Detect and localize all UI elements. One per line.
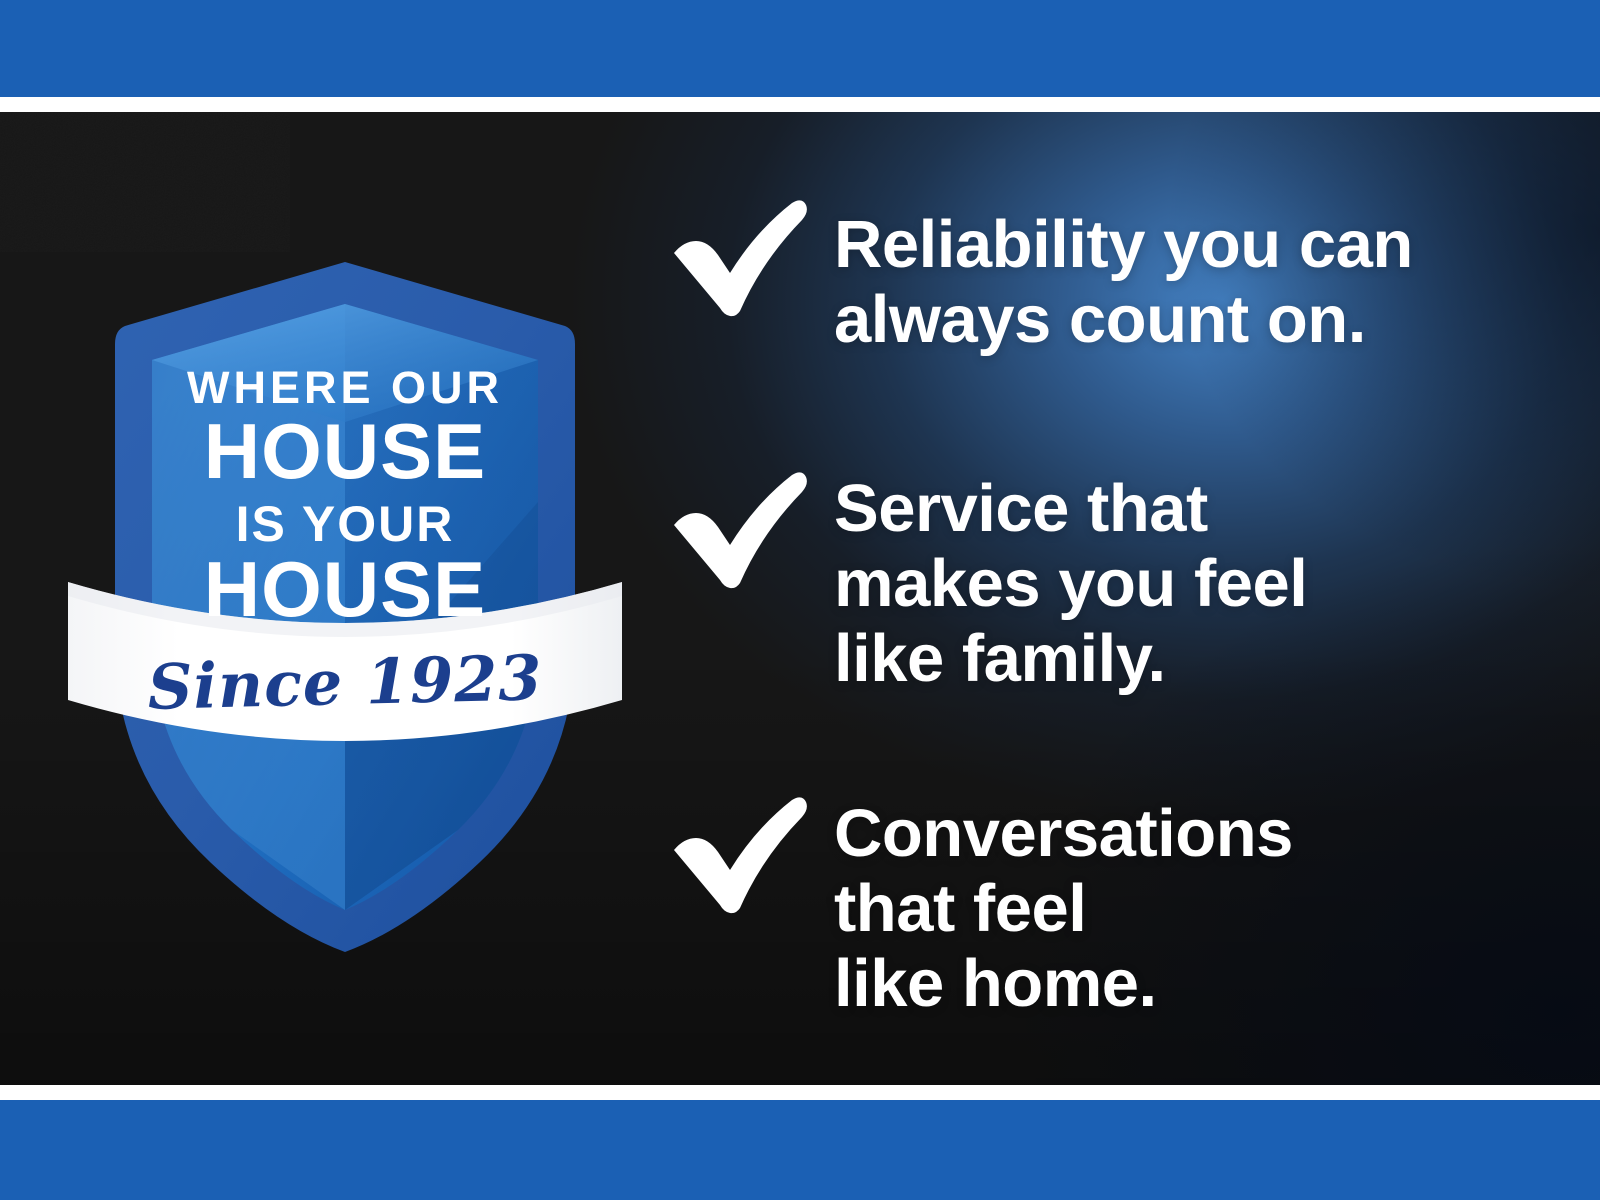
promo-graphic: Where Our House Is Your House Since 1923… <box>0 0 1600 1200</box>
benefit-item: Service that makes you feel like family. <box>670 469 1550 696</box>
bottom-separator <box>0 1085 1600 1100</box>
check-icon <box>670 794 810 914</box>
benefit-item: Reliability you can always count on. <box>670 197 1550 357</box>
top-brand-bar <box>0 0 1600 97</box>
main-stage: Where Our House Is Your House Since 1923… <box>0 112 1600 1085</box>
bottom-brand-bar <box>0 1100 1600 1200</box>
benefit-text: Conversations that feel like home. <box>834 794 1550 1021</box>
check-icon <box>670 469 810 589</box>
benefit-text: Service that makes you feel like family. <box>834 469 1550 696</box>
benefit-text: Reliability you can always count on. <box>834 197 1550 357</box>
brand-shield-logo: Where Our House Is Your House Since 1923 <box>60 252 630 952</box>
check-icon <box>670 197 810 317</box>
benefit-item: Conversations that feel like home. <box>670 794 1550 1021</box>
top-separator <box>0 97 1600 112</box>
grain-texture <box>0 112 290 252</box>
